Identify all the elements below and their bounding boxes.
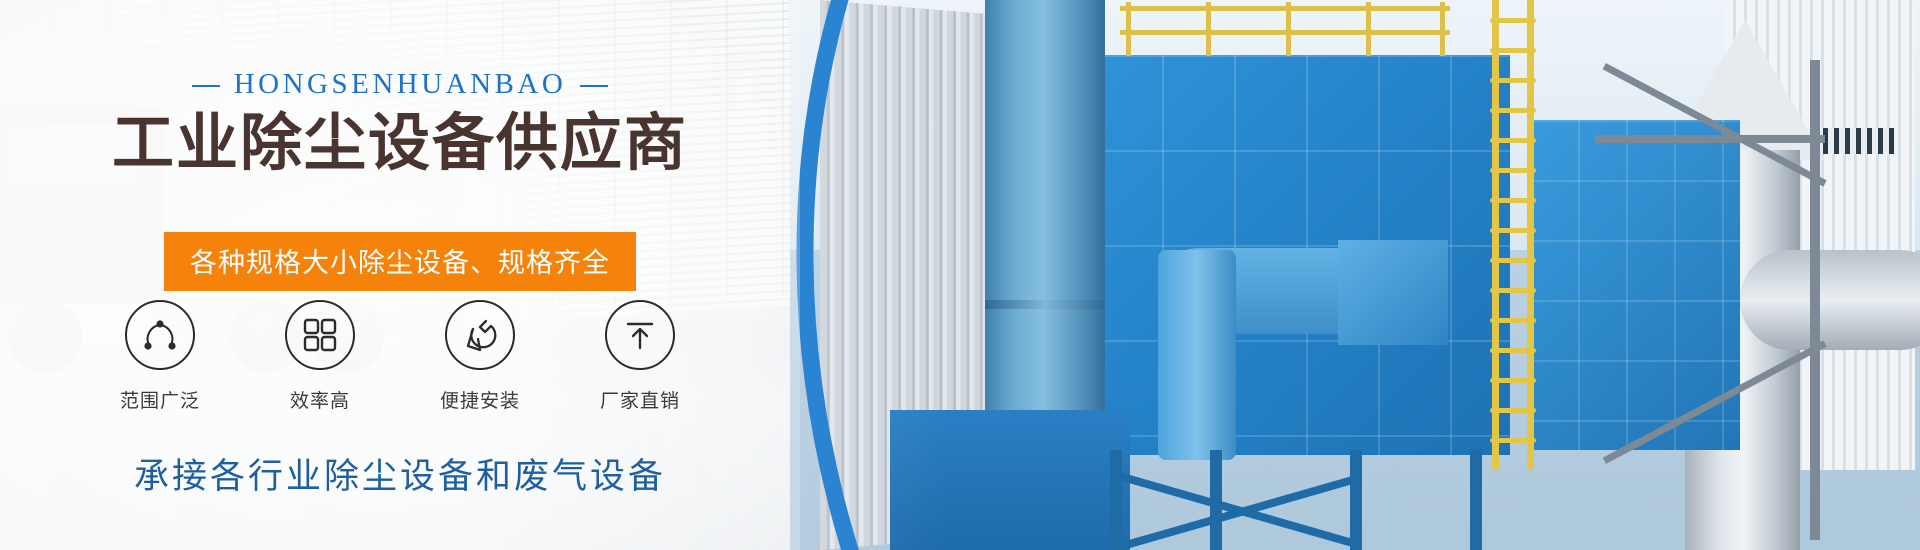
feature-item-installation[interactable]: 便捷安装 [425,300,535,413]
feature-label: 便捷安装 [440,386,520,413]
railing-post [1366,2,1371,56]
ladder-rung [1490,408,1536,413]
brand-pinyin: HONGSENHUANBAO [234,68,567,100]
support-leg [1470,450,1482,550]
railing-post [1206,2,1211,56]
ladder-rung [1490,288,1536,293]
railing-post [1440,2,1445,56]
banner-content: HONGSENHUANBAO 工业除尘设备供应商 各种规格大小除尘设备、规格齐全… [0,0,800,550]
ladder-rung [1490,198,1536,203]
ladder-rung [1490,48,1536,53]
ladder-rail [1527,0,1534,470]
dash-right-icon [580,85,608,87]
ladder-rung [1490,108,1536,113]
ladder-rung [1490,78,1536,83]
support-leg [1110,450,1122,550]
ladder-rung [1490,378,1536,383]
railing-bar [1120,30,1450,35]
ladder-rung [1490,228,1536,233]
grid-squares-icon [285,300,355,370]
feature-list: 范围广泛 效率高 [0,300,800,413]
duct-hopper [1338,240,1448,345]
tagline: 承接各行业除尘设备和废气设备 [0,448,800,499]
network-nodes-icon [125,300,195,370]
railing-bar [1120,6,1450,11]
blue-base-skirt [890,410,1130,550]
feature-label: 范围广泛 [120,386,200,413]
wrench-icon [445,300,515,370]
support-leg [1350,450,1362,550]
dash-left-icon [192,85,220,87]
feature-item-range[interactable]: 范围广泛 [105,300,215,413]
ladder-rung [1490,18,1536,23]
headline: 工业除尘设备供应商 [0,110,800,178]
ladder-rung [1490,138,1536,143]
stack-band [985,300,1105,309]
industrial-equipment-photo [790,0,1920,550]
subtitle-badge: 各种规格大小除尘设备、规格齐全 [164,232,636,291]
railing-post [1126,2,1131,56]
badge-container: 各种规格大小除尘设备、规格齐全 [0,232,800,291]
promo-banner: HONGSENHUANBAO 工业除尘设备供应商 各种规格大小除尘设备、规格齐全… [0,0,1920,550]
steel-beam [1595,135,1825,143]
feature-label: 厂家直销 [600,386,680,413]
feature-item-factory-direct[interactable]: 厂家直销 [585,300,695,413]
ladder-rung [1490,438,1536,443]
ladder-rung [1490,258,1536,263]
up-arrow-icon [605,300,675,370]
railing-post [1286,2,1291,56]
steel-column [1810,60,1820,540]
yellow-ladder-cage [1490,0,1536,470]
large-duct-pipe [1740,250,1920,350]
ladder-rail [1492,0,1499,470]
eyebrow-text: HONGSENHUANBAO [0,68,800,101]
duct-elbow-vertical [1158,250,1236,460]
feature-label: 效率高 [290,386,350,413]
ladder-rung [1490,348,1536,353]
ladder-rung [1490,168,1536,173]
yellow-top-railing [1120,2,1450,56]
feature-item-efficiency[interactable]: 效率高 [265,300,375,413]
ladder-rung [1490,318,1536,323]
